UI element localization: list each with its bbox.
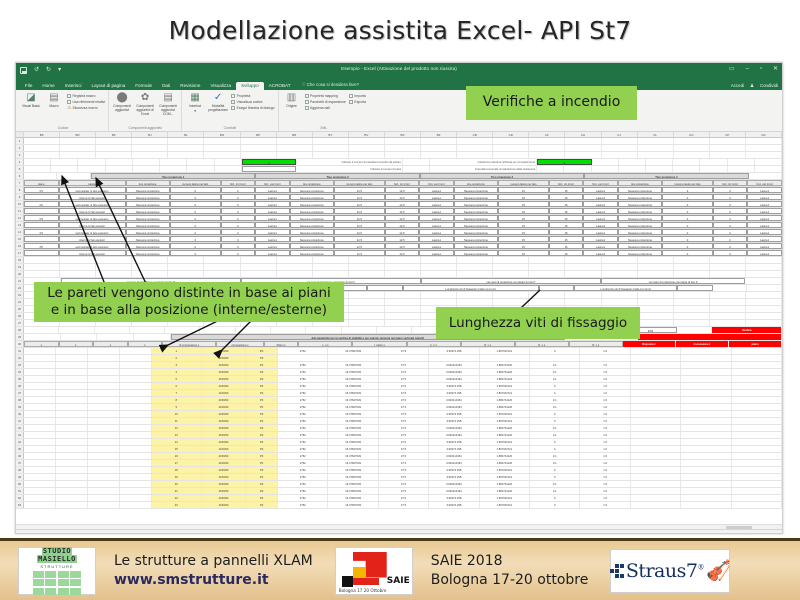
spreadsheet-cell[interactable] bbox=[385, 257, 421, 263]
spreadsheet-cell[interactable]: piano bbox=[24, 180, 59, 186]
spreadsheet-cell[interactable]: 2762 bbox=[278, 418, 328, 424]
spreadsheet-cell[interactable]: P0 bbox=[246, 411, 278, 417]
spreadsheet-cell[interactable]: 7 bbox=[152, 390, 202, 396]
spreadsheet-cell[interactable] bbox=[56, 383, 88, 389]
row-header[interactable]: 4 bbox=[16, 159, 24, 165]
row-header[interactable]: 51 bbox=[16, 488, 24, 494]
spreadsheet-row[interactable]: 12P3perimetrale (1 lato esposto)Nessuna … bbox=[16, 215, 782, 222]
spreadsheet-cell[interactable]: 4150/93 bbox=[202, 502, 246, 508]
spreadsheet-cell[interactable]: 1.6 bbox=[580, 432, 630, 438]
chevron-down-icon[interactable]: ▾ bbox=[194, 109, 196, 113]
spreadsheet-row[interactable]: 9interna (2 lati esposti)Nessuna protezi… bbox=[16, 194, 782, 201]
spreadsheet-cell[interactable] bbox=[120, 474, 152, 480]
proprieta-button[interactable]: Proprietà bbox=[231, 94, 274, 98]
spreadsheet-cell[interactable] bbox=[421, 292, 457, 298]
spreadsheet-cell[interactable]: 1.867007421 bbox=[480, 467, 530, 473]
spreadsheet-cell[interactable] bbox=[120, 397, 152, 403]
close-icon[interactable]: ✕ bbox=[773, 65, 778, 72]
spreadsheet-cell[interactable]: Lastre1 bbox=[747, 236, 782, 242]
spreadsheet-cell[interactable]: P1 bbox=[24, 187, 59, 193]
page-layout-view-icon[interactable] bbox=[717, 533, 722, 535]
spreadsheet-cell[interactable]: 1.6 bbox=[580, 348, 630, 354]
spreadsheet-cell[interactable] bbox=[349, 145, 385, 151]
spreadsheet-cell[interactable] bbox=[51, 159, 78, 165]
spreadsheet-cell[interactable]: Nessuna protezione bbox=[290, 229, 334, 235]
spreadsheet-cell[interactable]: Nessuna protezione bbox=[290, 187, 334, 193]
esporta-button[interactable]: Esporta bbox=[349, 100, 366, 104]
spreadsheet-cell[interactable] bbox=[200, 327, 235, 333]
spreadsheet-cell[interactable]: 12.5 bbox=[385, 208, 420, 214]
tab-visualizza[interactable]: Visualizza bbox=[205, 82, 236, 91]
spreadsheet-cell[interactable] bbox=[631, 474, 681, 480]
spreadsheet-cell[interactable]: nel caso di protezione con lastre di tip… bbox=[421, 278, 601, 284]
spreadsheet-cell[interactable] bbox=[710, 257, 746, 263]
spreadsheet-cell[interactable]: Nessuna protezione bbox=[290, 215, 334, 221]
spreadsheet-cell[interactable]: 0.1 bbox=[530, 397, 580, 403]
spreadsheet-cell[interactable]: 1.6 bbox=[580, 425, 630, 431]
spreadsheet-cell[interactable]: 4 bbox=[537, 159, 591, 165]
window-controls[interactable]: ▭ – ▫ ✕ bbox=[729, 65, 778, 72]
spreadsheet-cell[interactable] bbox=[277, 257, 313, 263]
spreadsheet-cell[interactable]: Nessuna protezione bbox=[126, 243, 170, 249]
spreadsheet-cell[interactable]: interna (2 lati esposti) bbox=[59, 250, 126, 256]
spreadsheet-cell[interactable]: 4150/93 bbox=[202, 418, 246, 424]
account-area[interactable]: Accedi ♟ Condividi bbox=[731, 83, 778, 89]
spreadsheet-cell[interactable]: 12.5 bbox=[334, 215, 385, 221]
tab-acrobat[interactable]: ACROBAT bbox=[264, 82, 296, 91]
spreadsheet-cell[interactable] bbox=[160, 166, 187, 172]
row-header[interactable]: 37 bbox=[16, 390, 24, 396]
spreadsheet-cell[interactable]: 1.867007421 bbox=[480, 502, 530, 508]
spreadsheet-cell[interactable]: 2762 bbox=[278, 383, 328, 389]
spreadsheet-cell[interactable] bbox=[56, 376, 88, 382]
tab-revisione[interactable]: Revisione bbox=[175, 82, 205, 91]
spreadsheet-area[interactable]: B6BDBFBJBLBNBPBRBTBVBXBZCBCDCFCHCJCLCNCP… bbox=[16, 132, 782, 524]
spreadsheet-cell[interactable]: 1.884744120 bbox=[480, 453, 530, 459]
ribbon-display-options-icon[interactable]: ▭ bbox=[729, 65, 735, 72]
spreadsheet-cell[interactable]: tipo protezione bbox=[618, 180, 662, 186]
spreadsheet-cell[interactable]: 0 bbox=[713, 201, 748, 207]
spreadsheet-cell[interactable] bbox=[168, 145, 204, 151]
spreadsheet-cell[interactable]: 17 bbox=[152, 460, 202, 466]
spreadsheet-cell[interactable]: 0 bbox=[530, 418, 580, 424]
spreadsheet-cell[interactable]: 3.90374.258 bbox=[429, 383, 479, 389]
spreadsheet-cell[interactable]: 3.90374.258 bbox=[429, 446, 479, 452]
spreadsheet-cell[interactable]: interna (2 lati esposti) bbox=[59, 194, 126, 200]
spreadsheet-cell[interactable] bbox=[215, 159, 242, 165]
spreadsheet-cell[interactable]: Tipo protezione 4 bbox=[584, 173, 748, 179]
spreadsheet-cell[interactable]: 2762 bbox=[278, 474, 328, 480]
spreadsheet-cell[interactable]: 4150/93 bbox=[202, 488, 246, 494]
row-header[interactable]: 18 bbox=[16, 257, 24, 263]
spreadsheet-row[interactable]: 45154150/93P0276216.3782764937.53.90374.… bbox=[16, 446, 782, 453]
spreadsheet-cell[interactable] bbox=[242, 166, 296, 172]
spreadsheet-cell[interactable]: Piano ▾ bbox=[264, 341, 299, 347]
spreadsheet-cell[interactable] bbox=[204, 145, 240, 151]
spreadsheet-cell[interactable]: 1.884744120 bbox=[480, 425, 530, 431]
share-icon[interactable]: ♟ bbox=[750, 83, 754, 89]
spreadsheet-cell[interactable] bbox=[602, 145, 638, 151]
spreadsheet-cell[interactable] bbox=[732, 348, 782, 354]
spreadsheet-cell[interactable]: Indicare il numero di pareti/set incendi… bbox=[296, 159, 403, 165]
share-label[interactable]: Condividi bbox=[760, 83, 778, 88]
spreadsheet-cell[interactable]: numero lastre per lato bbox=[334, 180, 385, 186]
spreadsheet-cell[interactable]: 10 bbox=[152, 411, 202, 417]
spreadsheet-cell[interactable] bbox=[342, 327, 377, 333]
spreadsheet-cell[interactable]: 0 bbox=[713, 236, 748, 242]
spreadsheet-cell[interactable]: 3.940214464 bbox=[429, 376, 479, 382]
spreadsheet-cell[interactable]: Nessuna protezione bbox=[126, 194, 170, 200]
spreadsheet-cell[interactable] bbox=[204, 264, 240, 270]
spreadsheet-cell[interactable] bbox=[746, 264, 782, 270]
spreadsheet-cell[interactable] bbox=[24, 425, 56, 431]
row-header[interactable]: 44 bbox=[16, 439, 24, 445]
spreadsheet-cell[interactable]: 3.940214464 bbox=[429, 488, 479, 494]
spreadsheet-cell[interactable] bbox=[133, 166, 160, 172]
spreadsheet-cell[interactable]: 37.5 bbox=[379, 495, 429, 501]
spreadsheet-cell[interactable] bbox=[631, 495, 681, 501]
spreadsheet-cell[interactable]: numero lastre per lato bbox=[498, 180, 549, 186]
spreadsheet-cell[interactable]: 0 bbox=[713, 222, 748, 228]
spreadsheet-row[interactable]: 47174150/93P0276216.3782764937.53.940214… bbox=[16, 460, 782, 467]
spreadsheet-cell[interactable]: P0 bbox=[246, 467, 278, 473]
column-header[interactable]: CH bbox=[565, 132, 601, 137]
spreadsheet-cell[interactable]: 0 bbox=[221, 194, 256, 200]
spreadsheet-cell[interactable] bbox=[120, 376, 152, 382]
spreadsheet-row[interactable]: 42124150/93P0276216.3782764937.53.940214… bbox=[16, 425, 782, 432]
spreadsheet-cell[interactable] bbox=[120, 488, 152, 494]
spreadsheet-cell[interactable]: 1.6 bbox=[580, 474, 630, 480]
spreadsheet-cell[interactable]: connessione ▾ bbox=[216, 341, 264, 347]
spreadsheet-cell[interactable]: hp1_int (mm) bbox=[713, 180, 748, 186]
spreadsheet-cell[interactable]: Lastre1 bbox=[419, 243, 454, 249]
spreadsheet-cell[interactable]: P0 bbox=[246, 446, 278, 452]
spreadsheet-cell[interactable] bbox=[60, 145, 96, 151]
spreadsheet-cell[interactable] bbox=[493, 264, 529, 270]
spreadsheet-cell[interactable] bbox=[385, 138, 421, 144]
spreadsheet-cell[interactable] bbox=[132, 257, 168, 263]
spreadsheet-cell[interactable] bbox=[539, 285, 575, 291]
spreadsheet-cell[interactable] bbox=[638, 306, 674, 312]
spreadsheet-cell[interactable] bbox=[421, 271, 457, 277]
spreadsheet-cell[interactable]: 1.867007421 bbox=[480, 446, 530, 452]
spreadsheet-cell[interactable]: 37.5 bbox=[379, 362, 429, 368]
spreadsheet-cell[interactable]: 1.6 bbox=[580, 453, 630, 459]
spreadsheet-cell[interactable] bbox=[565, 138, 601, 144]
spreadsheet-cell[interactable]: 15 bbox=[152, 446, 202, 452]
spreadsheet-cell[interactable] bbox=[631, 411, 681, 417]
spreadsheet-cell[interactable] bbox=[24, 397, 56, 403]
spreadsheet-cell[interactable]: 0 bbox=[221, 250, 256, 256]
spreadsheet-cell[interactable] bbox=[97, 334, 134, 340]
spreadsheet-cell[interactable] bbox=[241, 138, 277, 144]
spreadsheet-cell[interactable]: 4150/93 bbox=[202, 355, 246, 361]
spreadsheet-cell[interactable] bbox=[681, 376, 731, 382]
spreadsheet-cell[interactable] bbox=[493, 138, 529, 144]
spreadsheet-cell[interactable] bbox=[120, 383, 152, 389]
spreadsheet-cell[interactable] bbox=[24, 369, 56, 375]
spreadsheet-row[interactable]: 46164150/93P0276216.3782764937.53.940214… bbox=[16, 453, 782, 460]
spreadsheet-cell[interactable]: Lastre1 bbox=[419, 187, 454, 193]
spreadsheet-cell[interactable]: 4150/93 bbox=[202, 481, 246, 487]
spreadsheet-cell[interactable] bbox=[681, 404, 731, 410]
spreadsheet-cell[interactable] bbox=[638, 299, 674, 305]
spreadsheet-cell[interactable]: 3.940214464 bbox=[429, 460, 479, 466]
spreadsheet-cell[interactable]: Nessuna protezione bbox=[126, 201, 170, 207]
spreadsheet-cell[interactable]: interna (2 lati esposti) bbox=[59, 222, 126, 228]
spreadsheet-cell[interactable] bbox=[132, 145, 168, 151]
spreadsheet-cell[interactable] bbox=[619, 159, 646, 165]
spreadsheet-cell[interactable]: P0 bbox=[246, 390, 278, 396]
spreadsheet-cell[interactable]: 16.37827649 bbox=[328, 362, 378, 368]
spreadsheet-cell[interactable]: P0 bbox=[246, 376, 278, 382]
spreadsheet-cell[interactable]: 12.5 bbox=[334, 229, 385, 235]
spreadsheet-cell[interactable]: 0 bbox=[221, 201, 256, 207]
spreadsheet-cell[interactable] bbox=[710, 138, 746, 144]
spreadsheet-cell[interactable] bbox=[120, 467, 152, 473]
spreadsheet-cell[interactable] bbox=[681, 390, 731, 396]
spreadsheet-cell[interactable]: 37.5 bbox=[379, 481, 429, 487]
spreadsheet-cell[interactable]: 37.5 bbox=[379, 425, 429, 431]
spreadsheet-cell[interactable] bbox=[24, 439, 56, 445]
spreadsheet-cell[interactable]: hp1_est (mm) bbox=[583, 180, 618, 186]
spreadsheet-cell[interactable] bbox=[88, 404, 120, 410]
spreadsheet-cell[interactable] bbox=[132, 264, 168, 270]
spreadsheet-cell[interactable]: 0 bbox=[170, 208, 221, 214]
spreadsheet-cell[interactable]: 0 bbox=[221, 187, 256, 193]
spreadsheet-cell[interactable]: Lastre1 bbox=[583, 215, 618, 221]
spreadsheet-cell[interactable] bbox=[732, 460, 782, 466]
spreadsheet-cell[interactable]: 1.6 bbox=[580, 411, 630, 417]
spreadsheet-cell[interactable] bbox=[713, 285, 748, 291]
spreadsheet-row[interactable]: 3224150/93P0 bbox=[16, 355, 782, 362]
spreadsheet-cell[interactable]: 0 bbox=[170, 194, 221, 200]
spreadsheet-cell[interactable] bbox=[732, 362, 782, 368]
spreadsheet-cell[interactable]: 0 bbox=[170, 215, 221, 221]
spreadsheet-row[interactable]: 2 bbox=[16, 145, 782, 152]
spreadsheet-cell[interactable]: 4150/93 bbox=[202, 404, 246, 410]
spreadsheet-cell[interactable]: Nessuna protezione bbox=[454, 236, 498, 242]
spreadsheet-cell[interactable]: 4150/93 bbox=[202, 411, 246, 417]
spreadsheet-cell[interactable]: 0 bbox=[713, 208, 748, 214]
spreadsheet-row[interactable]: 3664150/93P0276216.3782764937.53.90374.2… bbox=[16, 383, 782, 390]
spreadsheet-row[interactable]: 3114150/93P0276216.3782764937.53.90374.2… bbox=[16, 348, 782, 355]
spreadsheet-cell[interactable] bbox=[349, 257, 385, 263]
spreadsheet-cell[interactable]: 2762 bbox=[278, 446, 328, 452]
spreadsheet-cell[interactable]: 1.6 bbox=[580, 502, 630, 508]
spreadsheet-cell[interactable] bbox=[728, 159, 755, 165]
spreadsheet-cell[interactable]: 3.940214464 bbox=[429, 397, 479, 403]
column-header[interactable]: CF bbox=[529, 132, 565, 137]
spreadsheet-cell[interactable]: 0 bbox=[221, 243, 256, 249]
spreadsheet-cell[interactable]: 0 bbox=[662, 222, 713, 228]
spreadsheet-cell[interactable]: 2762 bbox=[278, 432, 328, 438]
spreadsheet-cell[interactable]: 15 bbox=[549, 215, 584, 221]
spreadsheet-cell[interactable] bbox=[88, 474, 120, 480]
spreadsheet-cell[interactable]: 2762 bbox=[278, 348, 328, 354]
row-header[interactable]: 36 bbox=[16, 383, 24, 389]
spreadsheet-cell[interactable] bbox=[529, 257, 565, 263]
page-break-view-icon[interactable] bbox=[725, 533, 730, 535]
column-header[interactable]: CP bbox=[710, 132, 746, 137]
spreadsheet-cell[interactable]: 15 bbox=[498, 201, 549, 207]
spreadsheet-cell[interactable]: 3.90374.258 bbox=[429, 390, 479, 396]
spreadsheet-cell[interactable] bbox=[349, 271, 385, 277]
spreadsheet-cell[interactable] bbox=[88, 376, 120, 382]
spreadsheet-cell[interactable]: 0 bbox=[530, 383, 580, 389]
spreadsheet-cell[interactable]: 12.5 bbox=[334, 187, 385, 193]
spreadsheet-cell[interactable]: 1.6 bbox=[580, 404, 630, 410]
spreadsheet-cell[interactable] bbox=[56, 495, 88, 501]
spreadsheet-cell[interactable] bbox=[56, 411, 88, 417]
spreadsheet-cell[interactable]: Nessuna protezione bbox=[454, 215, 498, 221]
spreadsheet-cell[interactable] bbox=[631, 453, 681, 459]
spreadsheet-cell[interactable] bbox=[379, 355, 429, 361]
spreadsheet-cell[interactable] bbox=[57, 173, 90, 179]
spreadsheet-cell[interactable] bbox=[457, 152, 493, 158]
tab-formule[interactable]: Formule bbox=[130, 82, 157, 91]
spreadsheet-cell[interactable]: 2762 bbox=[278, 404, 328, 410]
spreadsheet-cell[interactable]: 1.867007421 bbox=[480, 411, 530, 417]
spreadsheet-cell[interactable]: Lastre1 bbox=[419, 222, 454, 228]
spreadsheet-cell[interactable] bbox=[24, 453, 56, 459]
spreadsheet-cell[interactable] bbox=[749, 173, 782, 179]
spreadsheet-cell[interactable] bbox=[674, 320, 710, 326]
spreadsheet-cell[interactable] bbox=[746, 152, 782, 158]
spreadsheet-cell[interactable]: 16.37827649 bbox=[328, 348, 378, 354]
row-header[interactable]: 39 bbox=[16, 404, 24, 410]
spreadsheet-cell[interactable]: Lunghezza viti di fissaggio (cella mq 1m… bbox=[403, 285, 539, 291]
visualizza-codice-button[interactable]: Visualizza codice bbox=[231, 100, 274, 104]
spreadsheet-cell[interactable] bbox=[24, 159, 51, 165]
spreadsheet-cell[interactable]: 0 bbox=[530, 439, 580, 445]
spreadsheet-cell[interactable]: 15 bbox=[498, 222, 549, 228]
spreadsheet-cell[interactable]: 16.37827649 bbox=[328, 467, 378, 473]
spreadsheet-cell[interactable]: 0.1 bbox=[530, 481, 580, 487]
spreadsheet-cell[interactable]: ▾ bbox=[24, 341, 59, 347]
spreadsheet-cell[interactable]: Nessuna protezione bbox=[290, 194, 334, 200]
riferimenti-relativi-button[interactable]: Usa riferimenti relativi bbox=[67, 100, 105, 104]
spreadsheet-cell[interactable] bbox=[120, 432, 152, 438]
spreadsheet-row[interactable]: 28PS connessaESSVerifica bbox=[16, 327, 782, 334]
spreadsheet-cell[interactable]: 20 bbox=[152, 481, 202, 487]
spreadsheet-cell[interactable]: 1.6 bbox=[580, 376, 630, 382]
spreadsheet-cell[interactable] bbox=[565, 152, 601, 158]
spreadsheet-cell[interactable] bbox=[529, 271, 565, 277]
spreadsheet-cell[interactable]: 16.37827649 bbox=[328, 481, 378, 487]
spreadsheet-cell[interactable] bbox=[529, 145, 565, 151]
spreadsheet-cell[interactable]: 37.5 bbox=[379, 446, 429, 452]
spreadsheet-cell[interactable] bbox=[278, 355, 328, 361]
spreadsheet-cell[interactable]: 2762 bbox=[278, 460, 328, 466]
row-header[interactable]: 3 bbox=[16, 152, 24, 158]
spreadsheet-cell[interactable] bbox=[385, 292, 421, 298]
spreadsheet-row[interactable]: 3 bbox=[16, 152, 782, 159]
spreadsheet-cell[interactable]: hp1_int (mm) bbox=[549, 180, 584, 186]
spreadsheet-cell[interactable] bbox=[710, 264, 746, 270]
spreadsheet-cell[interactable]: Nessuna protezione bbox=[618, 201, 662, 207]
column-header[interactable]: BT bbox=[313, 132, 349, 137]
spreadsheet-cell[interactable] bbox=[88, 362, 120, 368]
spreadsheet-cell[interactable]: P0 bbox=[246, 397, 278, 403]
spreadsheet-cell[interactable]: interna (2 lati esposti) bbox=[59, 236, 126, 242]
spreadsheet-cell[interactable] bbox=[631, 432, 681, 438]
spreadsheet-cell[interactable]: 1.867007421 bbox=[480, 348, 530, 354]
spreadsheet-cell[interactable] bbox=[457, 138, 493, 144]
spreadsheet-cell[interactable] bbox=[56, 481, 88, 487]
spreadsheet-cell[interactable]: 3.90374.258 bbox=[429, 502, 479, 508]
spreadsheet-cell[interactable]: 2762 bbox=[278, 397, 328, 403]
row-header[interactable]: 17 bbox=[16, 250, 24, 256]
spreadsheet-cell[interactable]: 15 bbox=[498, 229, 549, 235]
spreadsheet-cell[interactable]: 16.37827649 bbox=[328, 369, 378, 375]
spreadsheet-row[interactable]: 48184150/93P0276216.3782764937.53.90374.… bbox=[16, 467, 782, 474]
spreadsheet-cell[interactable]: P0 bbox=[246, 453, 278, 459]
spreadsheet-cell[interactable] bbox=[385, 299, 421, 305]
spreadsheet-cell[interactable] bbox=[132, 271, 168, 277]
spreadsheet-cell[interactable]: Lastre1 bbox=[747, 208, 782, 214]
spreadsheet-cell[interactable]: 12 bbox=[152, 425, 202, 431]
spreadsheet-cell[interactable]: 1.6 bbox=[580, 460, 630, 466]
row-header[interactable]: 45 bbox=[16, 446, 24, 452]
spreadsheet-cell[interactable] bbox=[313, 271, 349, 277]
spreadsheet-cell[interactable]: 0 bbox=[221, 208, 256, 214]
spreadsheet-cell[interactable]: 3.90374.258 bbox=[429, 439, 479, 445]
spreadsheet-cell[interactable]: 1.6 bbox=[580, 397, 630, 403]
spreadsheet-cell[interactable]: 15 bbox=[549, 222, 584, 228]
proprieta-mapping-button[interactable]: Proprietà mapping bbox=[305, 94, 346, 98]
spreadsheet-cell[interactable] bbox=[88, 439, 120, 445]
spreadsheet-cell[interactable]: Nessuna protezione bbox=[126, 215, 170, 221]
spreadsheet-cell[interactable] bbox=[59, 327, 94, 333]
row-header[interactable]: 48 bbox=[16, 467, 24, 473]
spreadsheet-cell[interactable] bbox=[60, 138, 96, 144]
spreadsheet-cell[interactable] bbox=[728, 166, 755, 172]
spreadsheet-cell[interactable] bbox=[24, 236, 59, 242]
spreadsheet-cell[interactable] bbox=[529, 264, 565, 270]
spreadsheet-cell[interactable]: 0 bbox=[170, 201, 221, 207]
spreadsheet-cell[interactable] bbox=[24, 145, 60, 151]
spreadsheet-cell[interactable]: Nessuna protezione bbox=[618, 208, 662, 214]
spreadsheet-cell[interactable]: 2762 bbox=[278, 439, 328, 445]
column-header[interactable]: CL bbox=[638, 132, 674, 137]
spreadsheet-cell[interactable]: 4150/93 bbox=[202, 383, 246, 389]
spreadsheet-cell[interactable]: 0.1 bbox=[530, 404, 580, 410]
spreadsheet-cell[interactable]: P0 bbox=[246, 355, 278, 361]
spreadsheet-cell[interactable] bbox=[631, 390, 681, 396]
spreadsheet-cell[interactable]: 16.37827649 bbox=[328, 411, 378, 417]
spreadsheet-cell[interactable]: P0 bbox=[246, 495, 278, 501]
row-header[interactable]: 7 bbox=[16, 180, 24, 186]
spreadsheet-cell[interactable]: P0 bbox=[246, 439, 278, 445]
modalita-progettazione-button[interactable]: ✓ Modalità progettazione bbox=[208, 92, 228, 112]
spreadsheet-cell[interactable] bbox=[493, 152, 529, 158]
spreadsheet-cell[interactable]: 0 bbox=[662, 208, 713, 214]
spreadsheet-cell[interactable]: 12.5 bbox=[334, 243, 385, 249]
spreadsheet-cell[interactable]: interna (2 lati esposti) bbox=[59, 208, 126, 214]
spreadsheet-cell[interactable]: P3 bbox=[24, 215, 59, 221]
spreadsheet-cell[interactable] bbox=[120, 348, 152, 354]
spreadsheet-cell[interactable]: 0 bbox=[662, 201, 713, 207]
spreadsheet-cell[interactable]: 2762 bbox=[278, 362, 328, 368]
spreadsheet-cell[interactable]: 1.884744120 bbox=[480, 404, 530, 410]
footer-website[interactable]: www.smstrutture.it bbox=[114, 571, 313, 590]
spreadsheet-cell[interactable] bbox=[385, 320, 421, 326]
spreadsheet-cell[interactable]: 1.884744120 bbox=[480, 481, 530, 487]
spreadsheet-cell[interactable] bbox=[187, 166, 214, 172]
spreadsheet-cell[interactable] bbox=[638, 320, 674, 326]
spreadsheet-cell[interactable]: 2762 bbox=[278, 390, 328, 396]
